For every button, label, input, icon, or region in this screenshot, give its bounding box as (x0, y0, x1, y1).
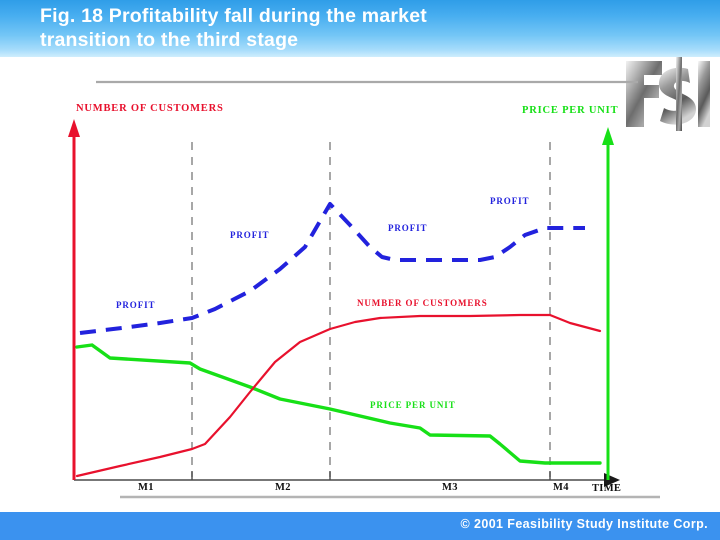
x-tick-label-m4: M4 (553, 482, 569, 493)
copyright-text: © 2001 Feasibility Study Institute Corp. (461, 517, 708, 531)
x-tick-label-m1: M1 (138, 482, 154, 493)
x-axis-title: TIME (592, 483, 621, 494)
customers-label: NUMBER OF CUSTOMERS (357, 298, 488, 308)
series-profit (80, 204, 585, 333)
slide-header: Fig. 18 Profitability fall during the ma… (0, 0, 720, 57)
x-tick-label-m2: M2 (275, 482, 291, 493)
right-axis-label: PRICE PER UNIT (522, 105, 618, 116)
slide-footer: © 2001 Feasibility Study Institute Corp. (0, 512, 720, 540)
series-price-per-unit (77, 345, 600, 463)
series-number-of-customers (77, 315, 600, 476)
left-axis-label: NUMBER OF CUSTOMERS (76, 103, 224, 114)
profit-label-4: PROFIT (490, 196, 529, 206)
price-label: PRICE PER UNIT (370, 400, 456, 410)
page-title: Fig. 18 Profitability fall during the ma… (40, 4, 620, 52)
chart-figure: NUMBER OF CUSTOMERS PRICE PER UNIT PROFI… (0, 57, 720, 512)
x-tick-label-m3: M3 (442, 482, 458, 493)
profit-label-2: PROFIT (230, 230, 269, 240)
left-axis-arrow (68, 119, 80, 137)
profit-label-1: PROFIT (116, 300, 155, 310)
profit-label-3: PROFIT (388, 223, 427, 233)
right-axis-arrow (602, 127, 614, 145)
slide: Fig. 18 Profitability fall during the ma… (0, 0, 720, 540)
